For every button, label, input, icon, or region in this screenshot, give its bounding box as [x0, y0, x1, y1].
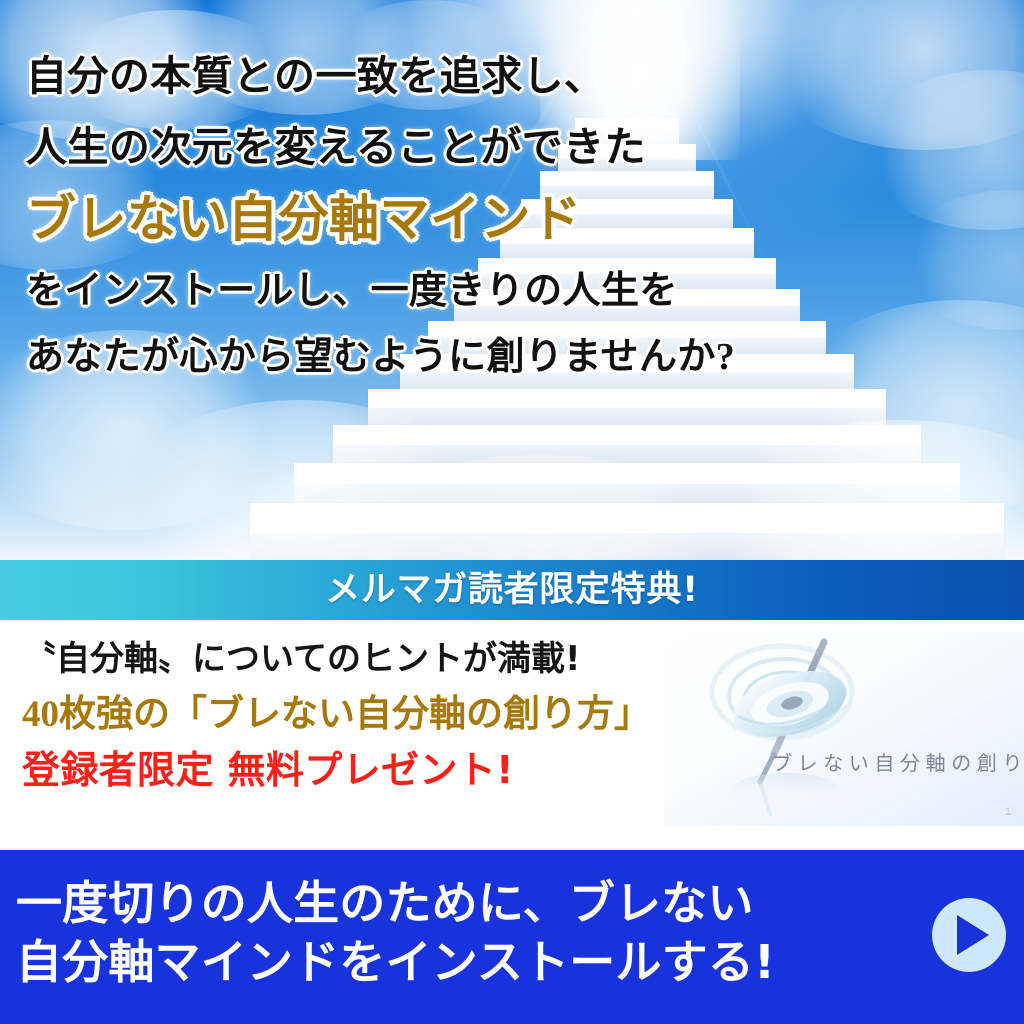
hero-line-4: をインストールし、一度きりの人生を — [26, 272, 866, 310]
hero-line-2: 人生の次元を変えることができた — [26, 127, 866, 168]
spinning-top-icon — [664, 632, 1024, 826]
cta-text-block: 一度切りの人生のために、ブレない 自分軸マインドをインストールする! — [16, 874, 916, 992]
hero-line-5: あなたが心から望むように創りませんか? — [26, 338, 866, 376]
hero-copy-block: 自分の本質との一致を追求し、 人生の次元を変えることができた ブレない自分軸マイ… — [26, 56, 866, 376]
offer-text-block: 〝自分軸〟についてのヒントが満載! 40枚強の「ブレない自分軸の創り方」 登録者… — [22, 642, 682, 789]
cta-line-2: 自分軸マインドをインストールする! — [16, 933, 916, 992]
offer-line-1: 〝自分軸〟についてのヒントが満載! — [22, 642, 682, 676]
play-button[interactable] — [932, 898, 1006, 972]
hero-line-1: 自分の本質との一致を追求し、 — [26, 56, 866, 97]
landing-page: 自分の本質との一致を追求し、 人生の次元を変えることができた ブレない自分軸マイ… — [0, 0, 1024, 1024]
cta-line-1: 一度切りの人生のために、ブレない — [16, 874, 916, 933]
cta-banner[interactable]: 一度切りの人生のために、ブレない 自分軸マインドをインストールする! — [0, 850, 1024, 1024]
hero-section: 自分の本質との一致を追求し、 人生の次元を変えることができた ブレない自分軸マイ… — [0, 0, 1024, 560]
benefit-banner-label: メルマガ読者限定特典! — [325, 573, 699, 608]
play-triangle-icon — [957, 915, 989, 955]
thumbnail-caption: ブレない自分軸の創り方 — [772, 747, 1024, 776]
offer-line-3: 登録者限定 無料プレゼント! — [22, 751, 682, 789]
slide-deck-thumbnail[interactable]: ブレない自分軸の創り方 1 — [664, 632, 1024, 826]
benefit-banner: メルマガ読者限定特典! — [0, 560, 1024, 620]
offer-line-2: 40枚強の「ブレない自分軸の創り方」 — [22, 696, 682, 733]
thumbnail-page-number: 1 — [1005, 806, 1011, 818]
hero-headline: ブレない自分軸マインド — [26, 194, 866, 244]
